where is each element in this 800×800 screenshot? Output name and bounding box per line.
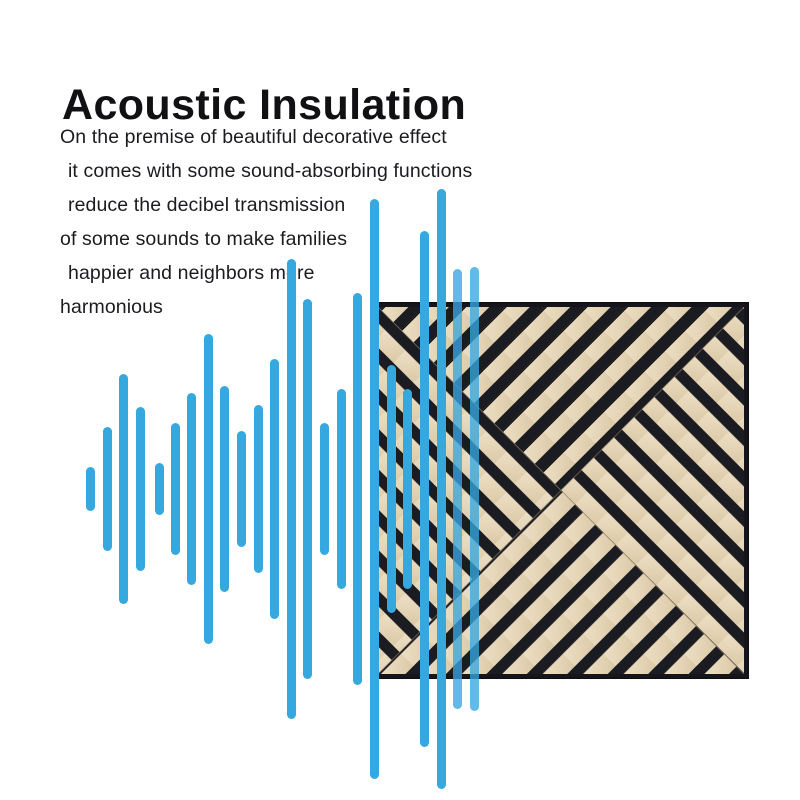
wave-bar (187, 393, 196, 585)
description-line: of some sounds to make families (60, 222, 540, 256)
description-block: On the premise of beautiful decorative e… (60, 120, 540, 324)
wave-bar (337, 389, 346, 589)
wave-bar (237, 431, 246, 547)
description-line: reduce the decibel transmission (60, 188, 540, 222)
wave-bar (204, 334, 213, 644)
wave-bar (103, 427, 112, 551)
wave-bar (171, 423, 180, 555)
wave-bar (254, 405, 263, 573)
wave-bar (86, 467, 95, 511)
description-line: it comes with some sound-absorbing funct… (60, 154, 540, 188)
acoustic-panel-image (373, 302, 749, 679)
wave-bar (287, 259, 296, 719)
poster-canvas: Acoustic Insulation On the premise of be… (0, 0, 800, 800)
wave-bar (353, 293, 362, 685)
wave-bar (119, 374, 128, 604)
panel-pattern-graphic (373, 302, 749, 679)
description-line: happier and neighbors more (60, 256, 540, 290)
wave-bar (320, 423, 329, 555)
wave-bar (136, 407, 145, 571)
wave-bar (303, 299, 312, 679)
wave-bar (270, 359, 279, 619)
wave-bar (155, 463, 164, 515)
description-line: On the premise of beautiful decorative e… (60, 120, 540, 154)
wave-bar (220, 386, 229, 592)
